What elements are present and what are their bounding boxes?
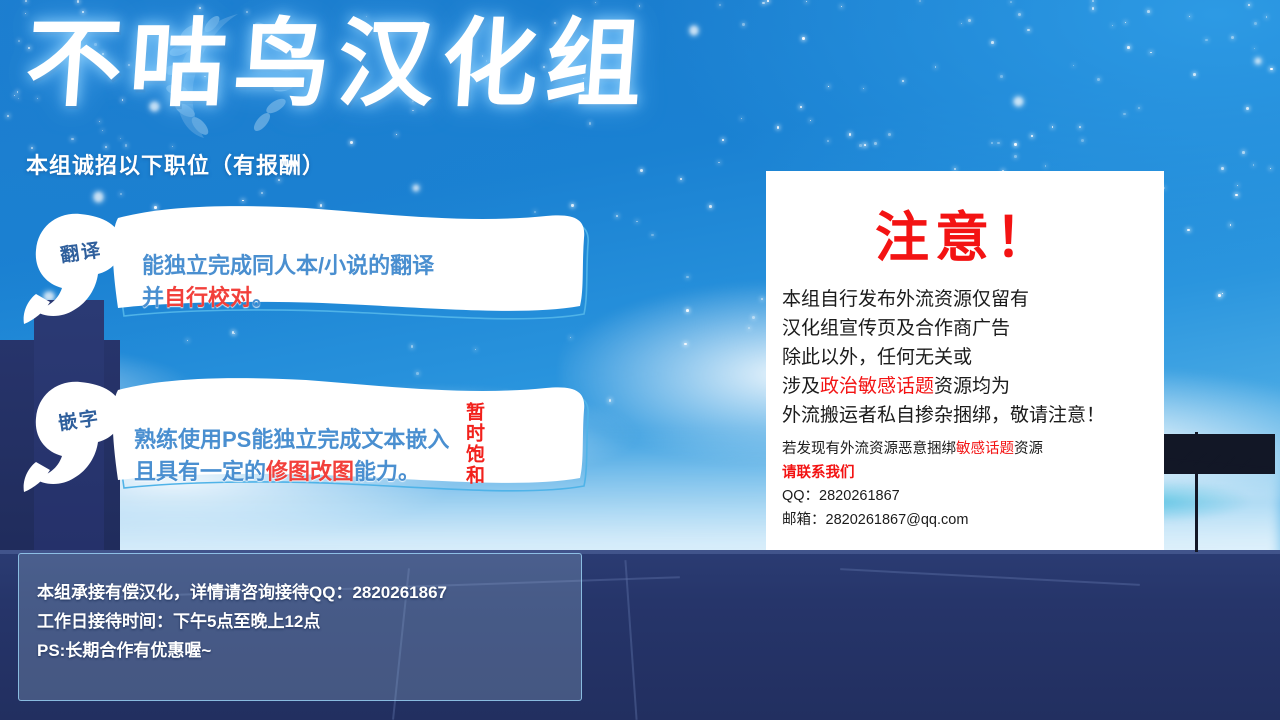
notice-body: 本组自行发布外流资源仅留有 汉化组宣传页及合作商广告 除此以外，任何无关或 涉及…	[782, 286, 1164, 430]
notice-small-line-1: 若发现有外流资源恶意捆绑敏感话题资源	[782, 438, 1164, 461]
notice-line-2: 汉化组宣传页及合作商广告	[782, 315, 1164, 344]
role-description-translation: 能独立完成同人本/小说的翻译 并自行校对。	[142, 250, 434, 314]
role-row-typesetting: 熟练使用PS能独立完成文本嵌入 且具有一定的修图改图能力。 暂时饱和 嵌字	[0, 368, 620, 518]
notice-card: 注意！ 本组自行发布外流资源仅留有 汉化组宣传页及合作商广告 除此以外，任何无关…	[766, 171, 1164, 550]
footer-text: 本组承接有偿汉化，详情请咨询接待QQ：2820261867 工作日接待时间：下午…	[37, 578, 581, 666]
poster-canvas: 不咕鸟汉化组 本组诚招以下职位（有报酬） 能独立完成同人本/小说的翻译 并自行校…	[0, 0, 1280, 720]
email-contact[interactable]: 邮箱：2820261867@qq.com	[782, 509, 1164, 532]
notice-line-1: 本组自行发布外流资源仅留有	[782, 286, 1164, 315]
role2-desc-line2-post: 能力。	[354, 459, 420, 484]
role2-desc-line1: 熟练使用PS能独立完成文本嵌入	[134, 427, 449, 452]
notice-line-4-pre: 涉及	[782, 376, 820, 397]
notice-title: 注意！	[766, 193, 1164, 272]
role2-desc-line2-highlight: 修图改图	[266, 459, 354, 484]
role-desc-line1: 能独立完成同人本/小说的翻译	[142, 253, 434, 278]
role-description-typesetting: 熟练使用PS能独立完成文本嵌入 且具有一定的修图改图能力。	[134, 424, 449, 488]
notice-line-4-highlight: 政治敏感话题	[820, 376, 934, 397]
footer-line-2: 工作日接待时间：下午5点至晚上12点	[37, 607, 581, 636]
footer-line-1: 本组承接有偿汉化，详情请咨询接待QQ：2820261867	[37, 578, 581, 607]
notice-small-1-post: 资源	[1014, 441, 1043, 457]
notice-line-3: 除此以外，任何无关或	[782, 344, 1164, 373]
notice-contact-block: 若发现有外流资源恶意捆绑敏感话题资源 请联系我们 QQ：2820261867 邮…	[782, 438, 1164, 532]
qq-contact[interactable]: QQ：2820261867	[782, 485, 1164, 508]
role-desc-line2-pre: 并	[142, 285, 164, 310]
page-title: 不咕鸟汉化组	[26, 14, 756, 116]
role-status-badge-typesetting: 暂时饱和	[462, 402, 484, 486]
notice-line-5: 外流搬运者私自掺杂捆绑，敬请注意！	[782, 402, 1164, 431]
role-banner-typesetting: 熟练使用PS能独立完成文本嵌入 且具有一定的修图改图能力。 暂时饱和	[108, 374, 596, 502]
contact-us-label: 请联系我们	[782, 462, 1164, 485]
dove-icon-typesetting	[18, 376, 130, 494]
footer-info-box: 本组承接有偿汉化，详情请咨询接待QQ：2820261867 工作日接待时间：下午…	[18, 553, 582, 701]
group-name-title: 不咕鸟汉化组	[22, 14, 759, 116]
role-row-translation: 能独立完成同人本/小说的翻译 并自行校对。 翻译	[0, 198, 620, 348]
notice-small-1-pre: 若发现有外流资源恶意捆绑	[782, 441, 956, 457]
role-desc-line2-highlight: 自行校对	[164, 285, 252, 310]
role-banner-translation: 能独立完成同人本/小说的翻译 并自行校对。	[108, 204, 596, 330]
role2-desc-line2-pre: 且具有一定的	[134, 459, 266, 484]
notice-line-4-post: 资源均为	[934, 376, 1010, 397]
dove-icon-translation	[18, 208, 130, 326]
recruit-subtitle: 本组诚招以下职位（有报酬）	[26, 148, 325, 180]
role-desc-line2-post: 。	[252, 285, 274, 310]
notice-small-1-highlight: 敏感话题	[956, 441, 1014, 457]
footer-line-3: PS:长期合作有优惠喔~	[37, 636, 581, 665]
notice-line-4: 涉及政治敏感话题资源均为	[782, 373, 1164, 402]
